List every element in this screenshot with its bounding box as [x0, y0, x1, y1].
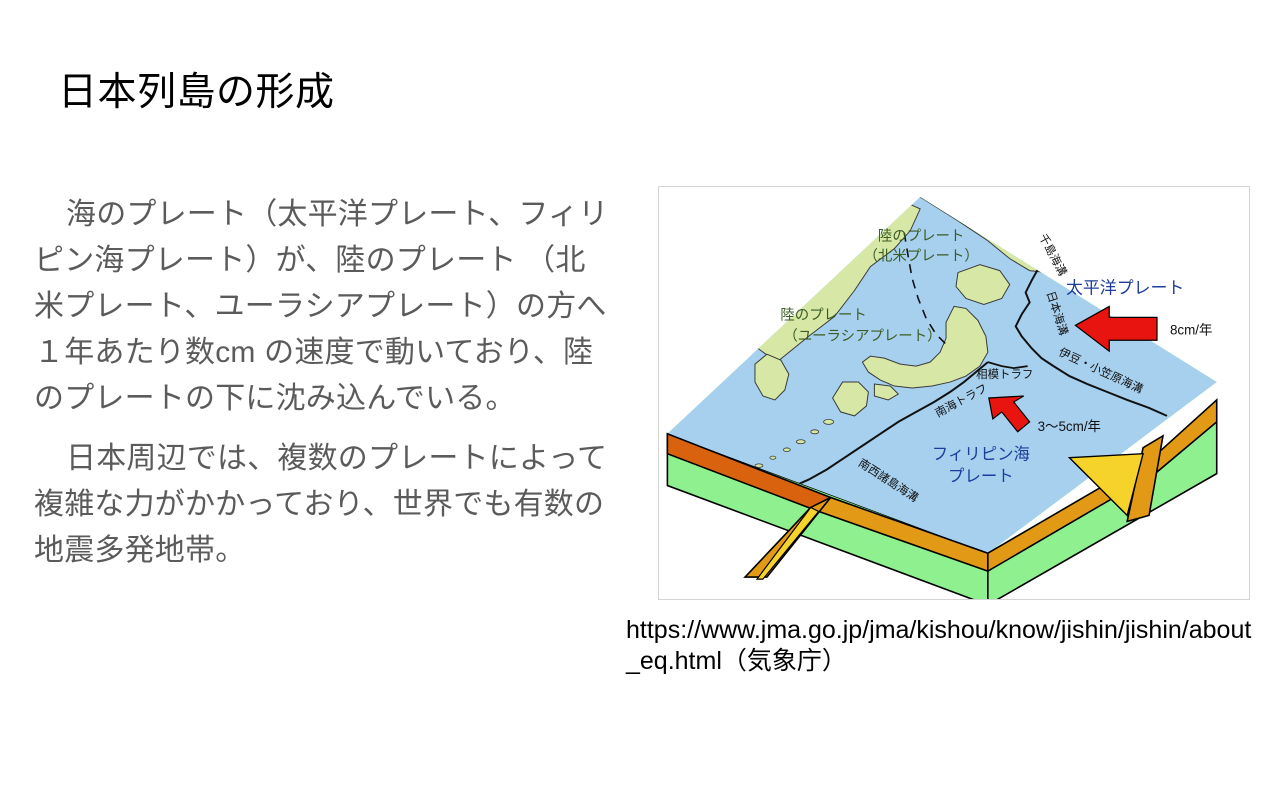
figure-source-caption: https://www.jma.go.jp/jma/kishou/know/ji…	[626, 615, 1258, 677]
label-pacific-rate: 8cm/年	[1170, 322, 1213, 337]
label-north-american-plate-line1: 陸のプレート	[878, 228, 964, 245]
slide-canvas: 日本列島の形成 海のプレート（太平洋プレート、フィリピン海プレート）が、陸のプレ…	[0, 0, 1266, 796]
body-paragraph-1: 海のプレート（太平洋プレート、フィリピン海プレート）が、陸のプレート （北米プレ…	[34, 192, 614, 422]
label-sagami-trough: 相模トラフ	[976, 368, 1033, 381]
label-eurasian-plate-line2: （ユーラシアプレート）	[783, 327, 941, 344]
label-north-american-plate-line2: （北米プレート）	[864, 248, 979, 265]
label-philippine-plate-line2: プレート	[948, 468, 1014, 486]
label-eurasian-plate-line1: 陸のプレート	[780, 306, 866, 323]
figure-container: 陸のプレート （北米プレート） 陸のプレート （ユーラシアプレート） 太平洋プレ…	[658, 186, 1250, 600]
body-text-block: 海のプレート（太平洋プレート、フィリピン海プレート）が、陸のプレート （北米プレ…	[34, 192, 614, 574]
label-pacific-plate: 太平洋プレート	[1066, 278, 1184, 297]
plate-tectonics-diagram: 陸のプレート （北米プレート） 陸のプレート （ユーラシアプレート） 太平洋プレ…	[659, 187, 1249, 599]
label-philippine-plate-line1: フィリピン海	[932, 446, 1030, 464]
body-paragraph-2: 日本周辺では、複数のプレートによって複雑な力がかかっており、世界でも有数の地震多…	[34, 436, 614, 574]
label-philippine-rate: 3〜5cm/年	[1038, 419, 1101, 434]
page-title: 日本列島の形成	[58, 68, 335, 118]
label-kuril-trench: 千島海溝	[1036, 231, 1070, 278]
